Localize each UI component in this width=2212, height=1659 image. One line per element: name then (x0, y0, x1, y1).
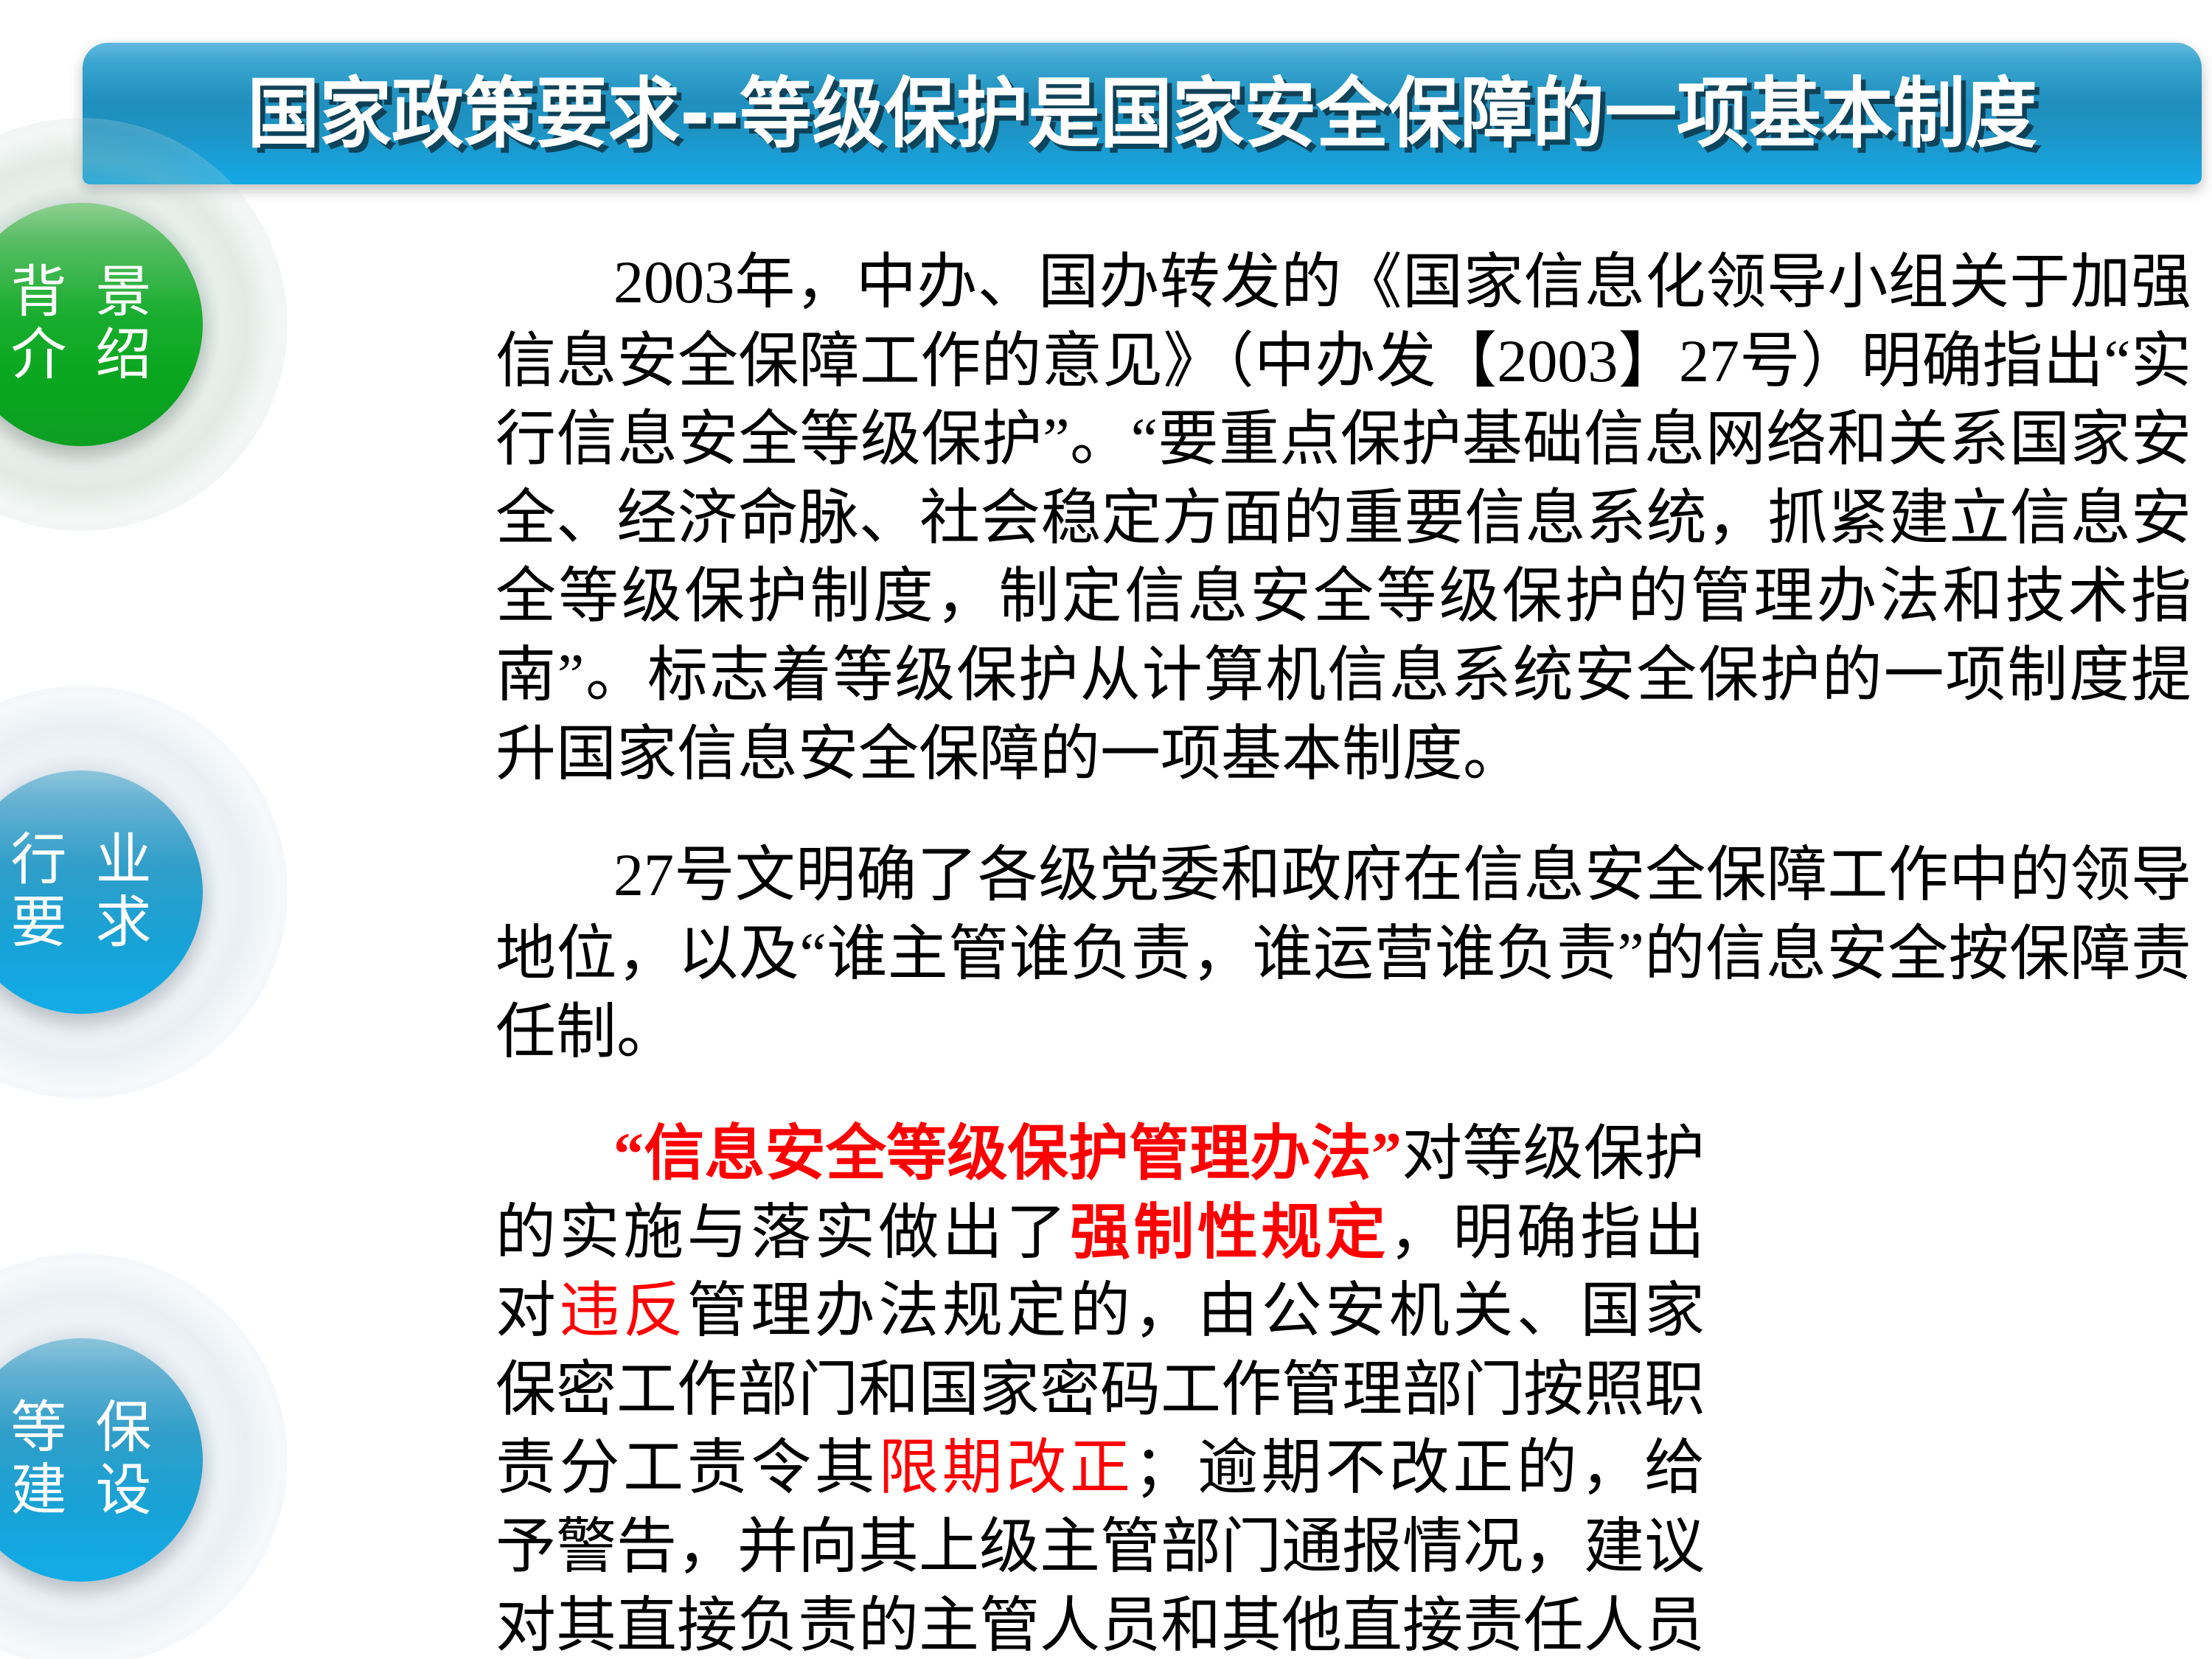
slide-body: 2003年，中办、国办转发的《国家信息化领导小组关于加强信息安全保障工作的意见》… (495, 243, 2191, 1659)
orb-background[interactable]: 背 景 介 绍 (0, 203, 203, 446)
page-title: 国家政策要求--等级保护是国家安全保障的一项基本制度 (247, 75, 2037, 152)
slide-title-banner: 国家政策要求--等级保护是国家安全保障的一项基本制度 (83, 43, 2202, 184)
sidebar-item-background-line1: 背 景 (4, 262, 159, 324)
orb-construction[interactable]: 等 保 建 设 (0, 1338, 203, 1582)
sidebar-item-construction-line1: 等 保 (4, 1397, 159, 1460)
sidebar-item-industry-line1: 行 业 (4, 829, 159, 892)
sidebar-item-industry-line2: 要 求 (4, 892, 159, 955)
highlight-deadline-correction: 限期改正 (878, 1434, 1133, 1501)
sidebar-item-background[interactable]: 背 景 介 绍 (0, 118, 288, 531)
slide-canvas: 国家政策要求--等级保护是国家安全保障的一项基本制度 背 景 介 绍 行 业 要… (0, 0, 2212, 1659)
body-paragraph-3: “信息安全等级保护管理办法”对等级保护的实施与落实做出了强制性规定，明确指出对违… (495, 1115, 1705, 1659)
sidebar-item-industry[interactable]: 行 业 要 求 (0, 686, 288, 1099)
orb-industry[interactable]: 行 业 要 求 (0, 771, 203, 1014)
highlight-violation: 违反 (560, 1277, 687, 1344)
highlight-regulation-name: “信息安全等级保护管理办法” (495, 1120, 1402, 1187)
body-paragraph-1: 2003年，中办、国办转发的《国家信息化领导小组关于加强信息安全保障工作的意见》… (495, 243, 2191, 793)
highlight-mandatory-rule: 强制性规定 (1070, 1199, 1389, 1266)
sidebar-item-construction-line2: 建 设 (4, 1460, 159, 1523)
sidebar-item-background-line2: 介 绍 (4, 324, 159, 387)
sidebar-item-construction[interactable]: 等 保 建 设 (0, 1253, 288, 1659)
body-paragraph-2: 27号文明确了各级党委和政府在信息安全保障工作中的领导地位，以及“谁主管谁负责，… (495, 836, 2191, 1072)
